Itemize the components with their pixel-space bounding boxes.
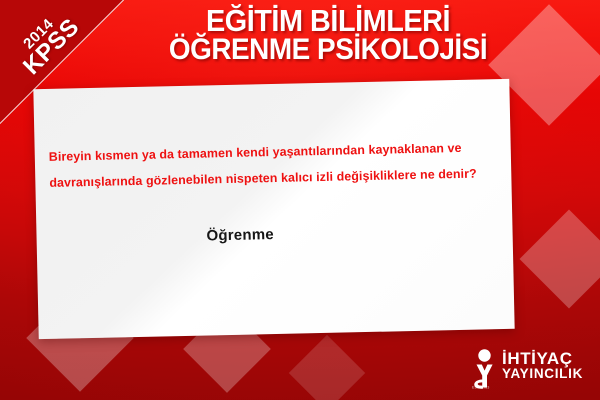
slide-root: 2014 KPSS EĞİTİM BİLİMLERİ ÖĞRENME PSİKO… (0, 0, 600, 400)
title-line-topic: ÖĞRENME PSİKOLOJİSİ (142, 36, 514, 65)
publisher-name-line2: YAYINCILIK (502, 367, 583, 381)
answer-text: Öğrenme (206, 226, 274, 244)
publisher-name: İHTİYAÇ YAYINCILIK (502, 350, 583, 381)
logo-established-text: EST. 1983 (472, 386, 489, 389)
question-card: Bireyin kısmen ya da tamamen kendi yaşan… (33, 79, 514, 339)
page-title: EĞİTİM BİLİMLERİ ÖĞRENME PSİKOLOJİSİ (128, 6, 528, 65)
publisher-name-line1: İHTİYAÇ (502, 350, 583, 367)
person-figure-icon: EST. 1983 (470, 349, 498, 389)
question-text: Bireyin kısmen ya da tamamen kendi yaşan… (49, 134, 502, 196)
question-card-inner: Bireyin kısmen ya da tamamen kendi yaşan… (33, 79, 514, 339)
publisher-logo: EST. 1983 İHTİYAÇ YAYINCILIK (470, 348, 592, 390)
title-line-subject: EĞİTİM BİLİMLERİ (142, 6, 514, 36)
